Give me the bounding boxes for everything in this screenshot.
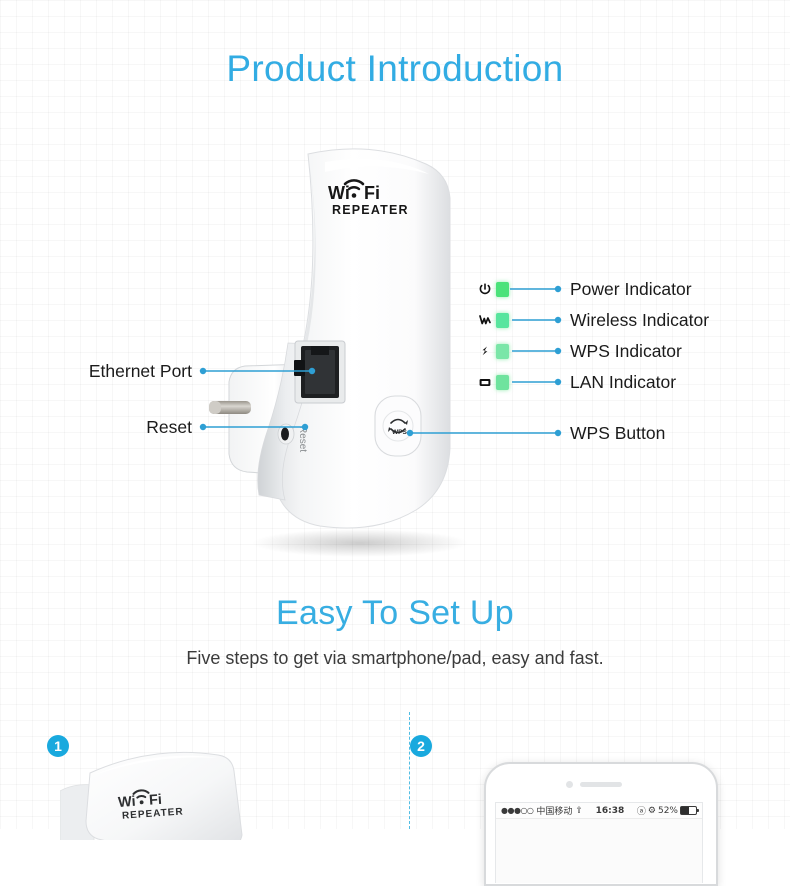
callout-wireless-indicator: Wireless Indicator [570, 310, 709, 331]
section-subtitle-easy-to-set-up: Five steps to get via smartphone/pad, ea… [0, 648, 790, 669]
svg-text:Wi: Wi [118, 794, 137, 811]
callout-reset-label: Reset [146, 417, 192, 437]
svg-text:Fi: Fi [148, 792, 162, 809]
power-icon [478, 282, 492, 301]
step-badge-2-number: 2 [417, 739, 425, 753]
svg-text:REPEATER: REPEATER [332, 203, 409, 217]
battery-icon [680, 806, 697, 815]
phone-status-bar: ●●●○○ 中国移动 ⇪ 16:38 ⓐ ⚙ 52% [496, 803, 702, 819]
callout-wps-indicator: WPS Indicator [570, 341, 682, 362]
wps-icon [478, 344, 492, 363]
callout-wps-button-label: WPS Button [570, 423, 665, 443]
step-badge-2: 2 [410, 735, 432, 757]
callout-power-indicator: Power Indicator [570, 279, 692, 300]
reset-silk-label: Reset [297, 426, 308, 452]
status-bar-right-cluster: ⓐ ⚙ 52% [637, 804, 697, 817]
wireless-led [496, 313, 509, 328]
rotation-lock-icon: ⚙ [648, 806, 656, 816]
infographic-page: Product Introduction [0, 0, 790, 829]
wps-button: WPS [375, 396, 421, 456]
svg-text:Wi: Wi [328, 183, 350, 203]
svg-text:Fi: Fi [364, 183, 380, 203]
callout-power-indicator-label: Power Indicator [570, 279, 692, 299]
signal-dots-icon: ●●●○○ [501, 806, 533, 815]
callout-lan-indicator: LAN Indicator [570, 372, 676, 393]
lan-led [496, 375, 509, 390]
wifi-repeater-device-illustration: Wi Fi REPEATER Reset [185, 138, 515, 558]
status-bar-time: 16:38 [583, 806, 637, 816]
smartphone-illustration: ●●●○○ 中国移动 ⇪ 16:38 ⓐ ⚙ 52% [484, 762, 718, 886]
callout-reset: Reset [0, 417, 192, 438]
callout-wps-button: WPS Button [570, 423, 665, 444]
section-title-easy-to-set-up: Easy To Set Up [0, 594, 790, 633]
power-led [496, 282, 509, 297]
callout-ethernet-port: Ethernet Port [0, 361, 192, 382]
battery-percent-label: 52% [658, 806, 678, 816]
callout-wps-indicator-label: WPS Indicator [570, 341, 682, 361]
callout-wireless-indicator-label: Wireless Indicator [570, 310, 709, 330]
wifi-icon: ⇪ [575, 806, 583, 816]
page-title-product-introduction: Product Introduction [0, 48, 790, 90]
callout-ethernet-port-label: Ethernet Port [89, 361, 192, 381]
wifi-repeater-small-illustration: Wi Fi REPEATER [60, 745, 320, 840]
wps-led [496, 344, 509, 359]
phone-camera-icon [566, 781, 573, 788]
carrier-label: 中国移动 [536, 804, 572, 817]
ethernet-port [294, 341, 345, 403]
lan-icon [478, 375, 492, 394]
power-plug-pin [209, 401, 251, 414]
wireless-icon [478, 313, 492, 332]
svg-text:WPS: WPS [392, 429, 407, 436]
step-divider [409, 712, 410, 829]
alarm-icon: ⓐ [637, 804, 646, 817]
callout-lan-indicator-label: LAN Indicator [570, 372, 676, 392]
phone-screen: ●●●○○ 中国移动 ⇪ 16:38 ⓐ ⚙ 52% [495, 802, 703, 883]
phone-speaker-grill [580, 782, 622, 787]
